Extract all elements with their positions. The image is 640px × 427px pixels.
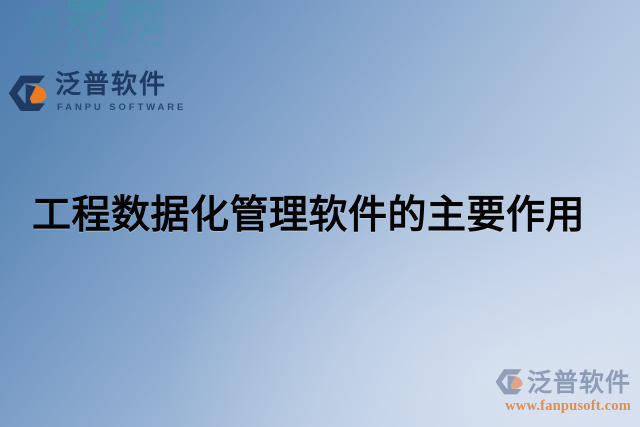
headline-title: 工程数据化管理软件的主要作用 [32,190,618,242]
fanpu-hexagon-logo-watermark-icon [495,368,525,398]
watermark-name-cn: 泛普软件 [527,369,631,397]
watermark-logo-row: 泛普软件 [495,368,631,398]
fanpu-hexagon-logo-icon [8,74,50,116]
site-watermark: 泛普软件 www.fanpusoft.com [495,368,631,415]
pixel-mosaic-decoration [30,0,180,76]
promo-banner: 泛普软件 FANPU SOFTWARE 工程数据化管理软件的主要作用 泛普软件 … [0,0,640,427]
logo-name-cn: 泛普软件 [55,70,186,100]
logo-name-en: FANPU SOFTWARE [57,101,186,114]
brand-logo: 泛普软件 FANPU SOFTWARE [8,70,186,116]
logo-wordmark: 泛普软件 FANPU SOFTWARE [55,70,186,114]
watermark-url: www.fanpusoft.com [495,397,631,415]
